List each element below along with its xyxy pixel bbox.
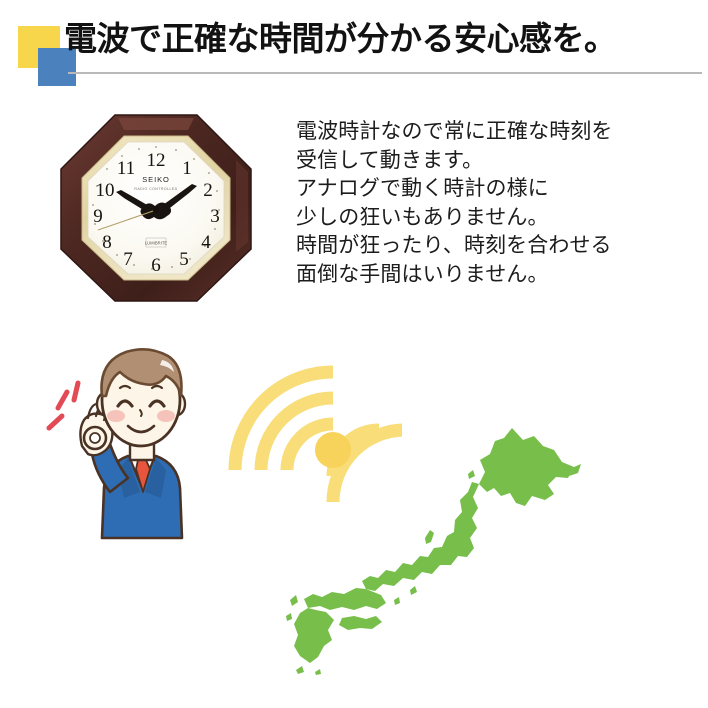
map-region-noto-peninsula [425, 530, 434, 544]
clock-numeral-7: 7 [123, 249, 133, 270]
description-line-6: 面倒な手間はいりません。 [296, 261, 696, 290]
header-divider [68, 72, 702, 74]
cheek-right [157, 410, 175, 422]
map-island-detail-5 [394, 597, 400, 605]
map-island-detail-7 [468, 470, 475, 479]
wall-clock-image: 12 1 2 3 4 5 6 7 8 9 10 11 SEIKO RADIO C… [58, 112, 254, 304]
page-title: 電波で正確な時間が分かる安心感を。 [64, 19, 704, 59]
japan-map-image [282, 420, 582, 675]
clock-frame-highlight [118, 118, 194, 130]
map-region-kyushu [294, 608, 334, 663]
map-island-detail-4 [315, 669, 321, 675]
clock-numeral-10: 10 [96, 180, 115, 201]
clock-numeral-3: 3 [210, 206, 220, 227]
clock-center-cap [153, 207, 159, 213]
map-island-detail-2 [286, 613, 292, 621]
clock-numeral-12: 12 [147, 150, 166, 171]
page-header: 電波で正確な時間が分かる安心感を。 [0, 0, 708, 100]
description-text: 電波時計なので常に正確な時刻を 受信して動きます。 アナログで動く時計の様に 少… [296, 118, 696, 289]
map-region-honshu-west [304, 588, 386, 610]
map-region-hokkaido [479, 428, 574, 506]
map-island-detail-3 [296, 666, 304, 674]
clock-numeral-4: 4 [201, 232, 211, 253]
clock-numeral-11: 11 [117, 158, 135, 179]
clock-brand-sub: RADIO CONTROLLED [134, 187, 177, 191]
description-line-2: 受信して動きます。 [296, 147, 696, 176]
businessman-illustration [44, 342, 234, 542]
description-line-4: 少しの狂いもありません。 [296, 204, 696, 233]
clock-brand-logo: SEIKO [142, 175, 169, 184]
japan-landmass [286, 428, 581, 675]
description-line-5: 時間が狂ったり、時刻を合わせる [296, 232, 696, 261]
map-island-detail-6 [410, 586, 417, 595]
clock-numeral-1: 1 [182, 158, 192, 179]
clock-frame-highlight-right [236, 160, 248, 252]
map-region-shikoku [339, 616, 382, 630]
clock-numeral-8: 8 [102, 232, 112, 253]
map-island-detail-1 [290, 595, 298, 606]
clock-numeral-6: 6 [151, 255, 161, 276]
clock-numeral-2: 2 [203, 180, 213, 201]
motion-line-2 [74, 383, 78, 400]
map-region-honshu-north [362, 482, 479, 591]
motion-line-3 [49, 416, 62, 428]
clock-numeral-5: 5 [179, 249, 189, 270]
cheek-left [107, 410, 125, 422]
motion-lines [49, 383, 78, 428]
clock-sub-label: LUMIBRITE [145, 241, 168, 246]
motion-line-1 [58, 392, 67, 408]
page-root: 電波で正確な時間が分かる安心感を。 [0, 0, 708, 708]
clock-numeral-9: 9 [93, 206, 103, 227]
description-line-1: 電波時計なので常に正確な時刻を [296, 118, 696, 147]
description-line-3: アナログで動く時計の様に [296, 175, 696, 204]
